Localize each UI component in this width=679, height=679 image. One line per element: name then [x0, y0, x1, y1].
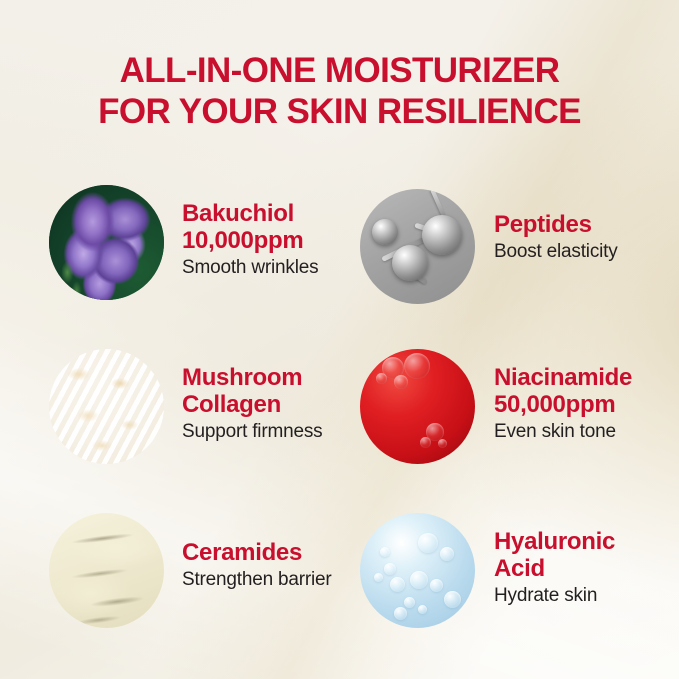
ingredient-card-peptides: Peptides Boost elasticity [360, 189, 660, 307]
page-title: ALL-IN-ONE MOISTURIZER FOR YOUR SKIN RES… [0, 50, 679, 132]
ingredient-image-hyaluronic-acid [360, 513, 475, 628]
red-serum-droplet-icon [360, 349, 475, 464]
ingredient-title-mushroom-collagen-line-1: Mushroom [182, 364, 322, 391]
cream-texture-icon [49, 513, 164, 628]
ingredient-text-mushroom-collagen: Mushroom Collagen Support firmness [182, 364, 322, 444]
page-title-line-1: ALL-IN-ONE MOISTURIZER [120, 51, 560, 90]
ingredient-benefit-hyaluronic-acid: Hydrate skin [494, 584, 615, 608]
ingredient-card-mushroom-collagen: Mushroom Collagen Support firmness [49, 349, 349, 467]
ingredient-title-ceramides: Ceramides [182, 539, 332, 566]
ingredient-benefit-bakuchiol: Smooth wrinkles [182, 256, 318, 280]
ingredient-image-bakuchiol [49, 185, 164, 300]
ingredient-image-peptides [360, 189, 475, 304]
ingredient-title-niacinamide-line-2: 50,000ppm [494, 391, 632, 418]
ingredient-benefit-niacinamide: Even skin tone [494, 420, 632, 444]
ingredient-image-mushroom-collagen [49, 349, 164, 464]
ingredient-title-mushroom-collagen-line-2: Collagen [182, 391, 322, 418]
ingredient-text-peptides: Peptides Boost elasticity [494, 211, 618, 264]
ingredient-title-bakuchiol-line-1: Bakuchiol [182, 200, 318, 227]
iris-flower-icon [49, 185, 164, 300]
ingredient-benefit-ceramides: Strengthen barrier [182, 568, 332, 592]
ingredient-image-niacinamide [360, 349, 475, 464]
molecule-icon [360, 189, 475, 304]
ingredient-card-niacinamide: Niacinamide 50,000ppm Even skin tone [360, 349, 660, 467]
ingredient-title-niacinamide-line-1: Niacinamide [494, 364, 632, 391]
ingredient-title-hyaluronic-acid-line-1: Hyaluronic [494, 528, 615, 555]
ingredient-card-ceramides: Ceramides Strengthen barrier [49, 513, 349, 631]
ingredient-text-bakuchiol: Bakuchiol 10,000ppm Smooth wrinkles [182, 200, 318, 280]
ingredient-text-hyaluronic-acid: Hyaluronic Acid Hydrate skin [494, 528, 615, 608]
blue-gel-droplet-icon [360, 513, 475, 628]
ingredient-card-bakuchiol: Bakuchiol 10,000ppm Smooth wrinkles [49, 185, 349, 303]
ingredient-benefit-peptides: Boost elasticity [494, 240, 618, 264]
infographic-stage: ALL-IN-ONE MOISTURIZER FOR YOUR SKIN RES… [0, 0, 679, 679]
ingredient-text-ceramides: Ceramides Strengthen barrier [182, 539, 332, 592]
ingredient-title-peptides: Peptides [494, 211, 618, 238]
ingredient-text-niacinamide: Niacinamide 50,000ppm Even skin tone [494, 364, 632, 444]
ingredient-title-hyaluronic-acid-line-2: Acid [494, 555, 615, 582]
ingredient-image-ceramides [49, 513, 164, 628]
ingredient-card-hyaluronic-acid: Hyaluronic Acid Hydrate skin [360, 513, 660, 631]
ingredient-title-bakuchiol-line-2: 10,000ppm [182, 227, 318, 254]
page-title-line-2: FOR YOUR SKIN RESILIENCE [0, 91, 679, 132]
ingredient-benefit-mushroom-collagen: Support firmness [182, 420, 322, 444]
snow-mushroom-icon [49, 349, 164, 464]
